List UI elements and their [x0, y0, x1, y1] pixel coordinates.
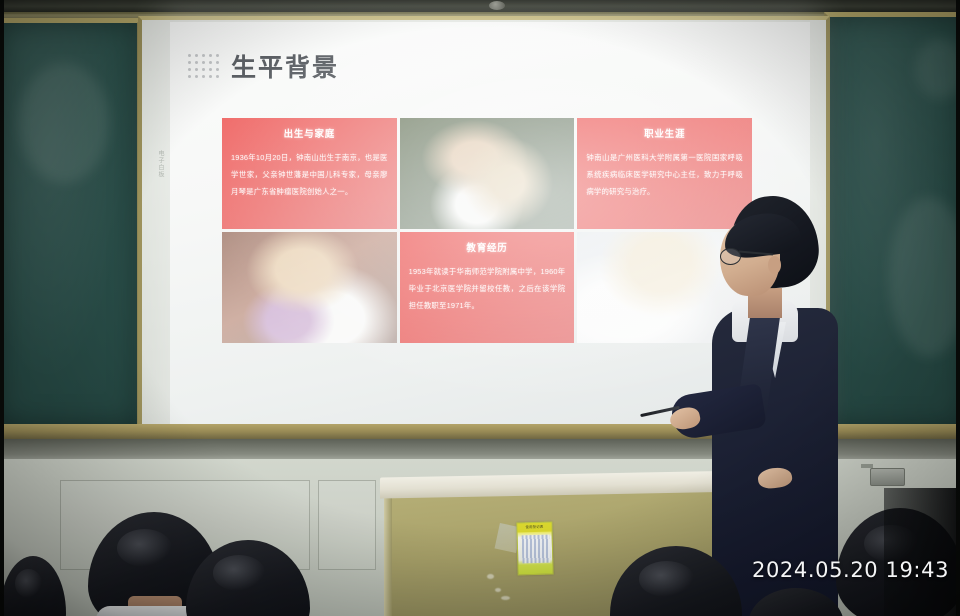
- blackboard-left: [0, 18, 142, 430]
- frame-edge-right: [956, 0, 960, 616]
- slide-header: 生平背景: [188, 48, 339, 84]
- card-title: 教育经历: [466, 240, 507, 254]
- frame-edge-left: [0, 0, 4, 616]
- camera-timestamp: 2024.05.20 19:43: [752, 558, 949, 582]
- glasses-icon: [720, 248, 741, 265]
- eraser-box: [870, 468, 905, 486]
- card-body: 1953年就读于华南师范学院附属中学，1960年毕业于北京医学院并留校任教，之后…: [409, 263, 566, 314]
- frame-shadow-right: [884, 488, 960, 616]
- podium-sticker-bars: [522, 535, 551, 564]
- photo-top-center: [400, 118, 575, 229]
- ledge-panel: [318, 480, 376, 570]
- slide-title: 生平背景: [231, 48, 339, 84]
- card-body: 钟南山是广州医科大学附属第一医院国家呼吸系统疾病临床医学研究中心主任，致力于呼吸…: [586, 149, 743, 200]
- dot-grid-icon: [188, 54, 220, 79]
- classroom-scene: 电子白板 生平背景 出生与家庭 1936年10月20日，钟南山出生于南京，也是医…: [0, 0, 960, 616]
- card-education: 教育经历 1953年就读于华南师范学院附属中学，1960年毕业于北京医学院并留校…: [400, 232, 575, 343]
- photo-bottom-left: [222, 232, 397, 343]
- rail-knob: [489, 1, 505, 10]
- card-body: 1936年10月20日，钟南山出生于南京，也是医学世家，父亲钟世藩是中国儿科专家…: [231, 149, 388, 200]
- presenter-ear: [768, 256, 781, 274]
- card-title: 出生与家庭: [284, 126, 336, 140]
- podium-left-edge: [384, 492, 392, 616]
- card-title: 职业生涯: [644, 126, 685, 140]
- podium-sticker-title: 使用登记表: [517, 523, 551, 533]
- whiteboard-side-text: 电子白板: [148, 150, 164, 178]
- podium-sticker: 使用登记表: [516, 522, 553, 576]
- card-birth-family: 出生与家庭 1936年10月20日，钟南山出生于南京，也是医学世家，父亲钟世藩是…: [222, 118, 397, 229]
